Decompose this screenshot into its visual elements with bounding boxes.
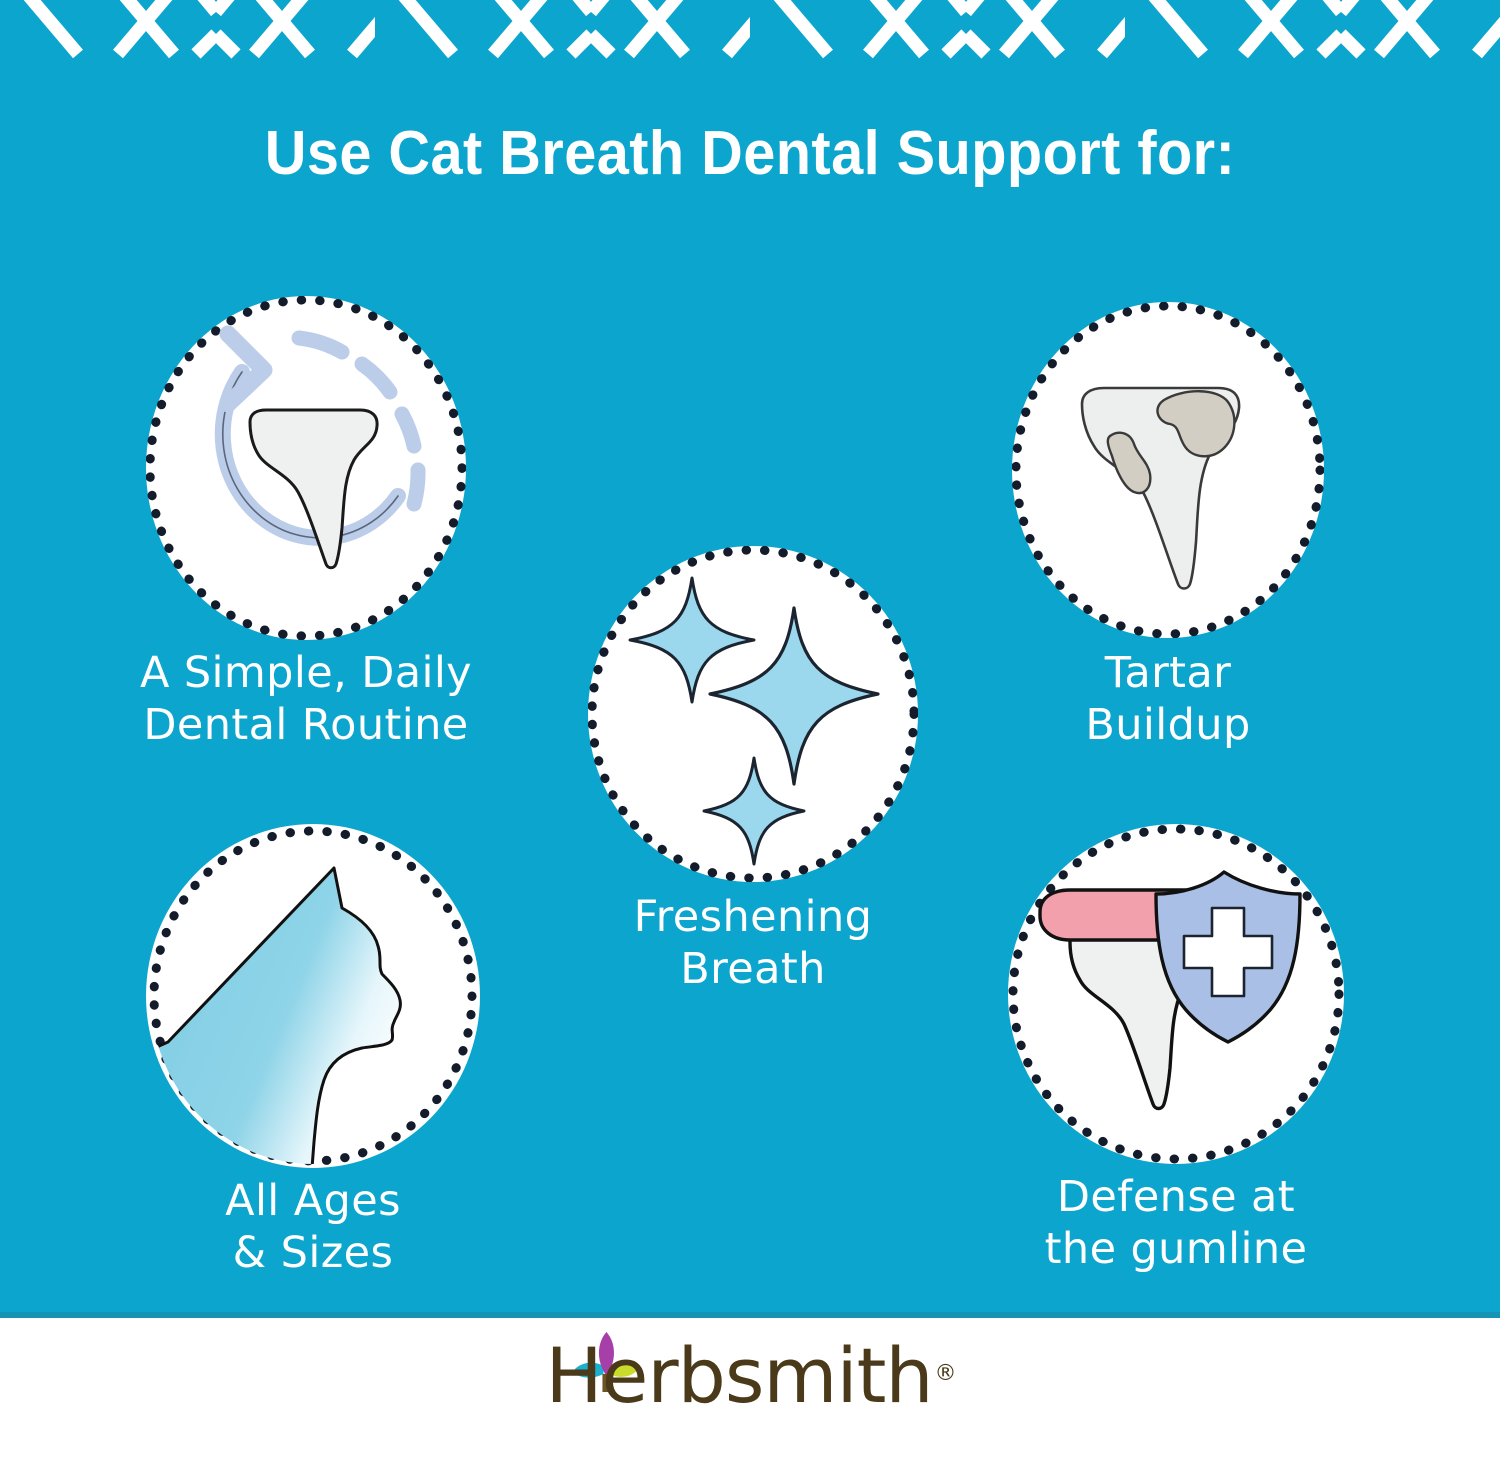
cat-head-silhouette-icon xyxy=(146,824,480,1168)
caption-line-1: Tartar xyxy=(1105,648,1231,698)
brand-name: Herbsmith xyxy=(545,1338,932,1414)
caption-line-2: the gumline xyxy=(1045,1224,1308,1274)
tooth-gum-shield-icon xyxy=(1008,824,1344,1164)
feature-freshening-breath: Freshening Breath xyxy=(588,546,918,882)
caption-line-2: Buildup xyxy=(1085,700,1250,750)
tooth-with-tartar-icon xyxy=(1012,302,1324,638)
brand-logo[interactable]: Herbsmith ® xyxy=(545,1332,954,1408)
zigzag-chevron-border xyxy=(0,0,1500,62)
sparkles-icon xyxy=(588,546,918,882)
feature-caption-gumline-defense: Defense at the gumline xyxy=(941,1172,1411,1275)
caption-line-1: A Simple, Daily xyxy=(140,648,472,698)
infographic-root: Use Cat Breath Dental Support for: xyxy=(0,0,1500,1458)
caption-line-2: Dental Routine xyxy=(143,700,468,750)
feature-caption-freshening-breath: Freshening Breath xyxy=(533,892,973,995)
caption-line-2: & Sizes xyxy=(233,1228,394,1278)
caption-line-1: Freshening xyxy=(634,892,873,942)
tooth-with-circular-arrow-icon xyxy=(146,296,466,640)
feature-daily-routine: A Simple, Daily Dental Routine xyxy=(146,296,466,640)
feature-caption-daily-routine: A Simple, Daily Dental Routine xyxy=(46,648,566,751)
feature-caption-all-ages-sizes: All Ages & Sizes xyxy=(93,1176,533,1279)
registered-trademark-icon: ® xyxy=(935,1361,957,1386)
caption-line-1: Defense at xyxy=(1057,1172,1295,1222)
blue-background-panel: Use Cat Breath Dental Support for: xyxy=(0,0,1500,1318)
page-title: Use Cat Breath Dental Support for: xyxy=(53,118,1448,189)
footer: Herbsmith ® xyxy=(0,1318,1500,1458)
caption-line-2: Breath xyxy=(680,944,826,994)
caption-line-1: All Ages xyxy=(225,1176,401,1226)
feature-gumline-defense: Defense at the gumline xyxy=(1008,824,1344,1164)
feature-all-ages-sizes: All Ages & Sizes xyxy=(146,824,480,1168)
feature-caption-tartar-buildup: Tartar Buildup xyxy=(948,648,1388,751)
feature-tartar-buildup: Tartar Buildup xyxy=(1012,302,1324,638)
